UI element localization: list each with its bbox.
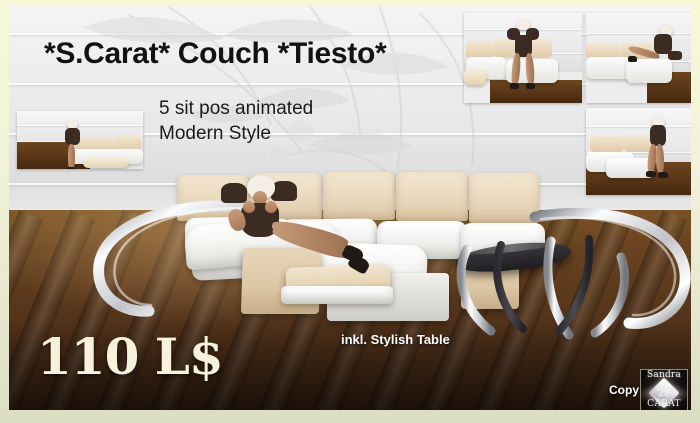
permission-label: Copy bbox=[609, 383, 639, 397]
thumbnail-pose-side-sit bbox=[586, 108, 691, 195]
feature-line-2: Modern Style bbox=[159, 121, 313, 146]
feature-line-1: 5 sit pos animated bbox=[159, 96, 313, 121]
product-title: *S.Carat* Couch *Tiesto* bbox=[44, 37, 386, 71]
product-features: 5 sit pos animated Modern Style bbox=[159, 96, 313, 146]
thumbnail-pose-standing-left bbox=[17, 111, 143, 169]
stylish-table-legs bbox=[439, 235, 654, 345]
thumbnail-pose-lounging bbox=[586, 13, 691, 103]
includes-label: inkl. Stylish Table bbox=[341, 332, 450, 347]
thumbnail-pose-sitting-forward bbox=[464, 13, 582, 103]
brand-carat: 28 CARAT bbox=[641, 389, 687, 409]
price-label: 110 L$ bbox=[37, 327, 223, 386]
avatar-model bbox=[209, 173, 399, 293]
product-advertisement-image: *S.Carat* Couch *Tiesto* 5 sit pos anima… bbox=[0, 0, 700, 423]
photo-canvas: *S.Carat* Couch *Tiesto* 5 sit pos anima… bbox=[9, 5, 691, 410]
couch-back-cushion bbox=[396, 172, 468, 221]
brand-logo: Sandra 28 CARAT jewelry bbox=[640, 369, 688, 410]
